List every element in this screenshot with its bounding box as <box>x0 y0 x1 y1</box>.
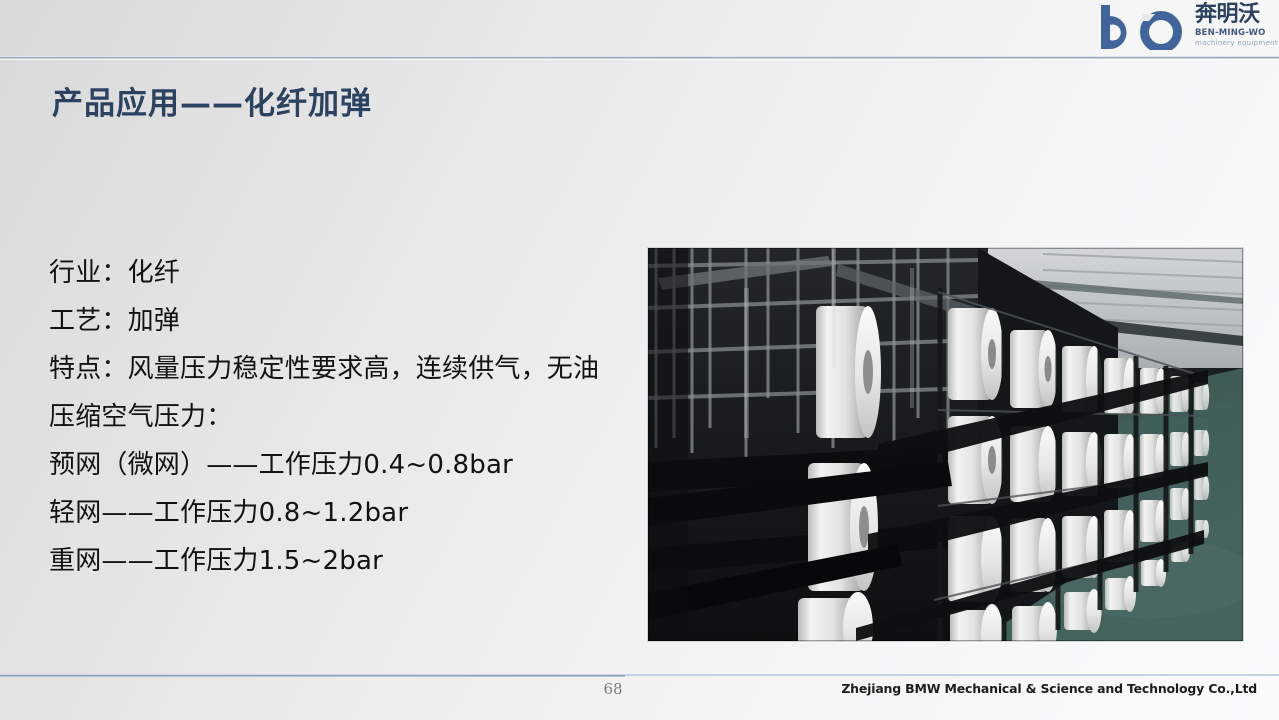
logo-tagline: machinery equipment <box>1195 39 1278 48</box>
company-logo: 奔明沃 BEN-MING-WO machinery equipment <box>1095 2 1271 56</box>
texturing-machine-yarn-bobbins-photo <box>648 248 1243 641</box>
content-line-features: 特点：风量压力稳定性要求高，连续供气，无油 <box>49 345 619 393</box>
page-title: 产品应用——化纤加弹 <box>52 78 372 123</box>
logo-wordmark: 奔明沃 BEN-MING-WO machinery equipment <box>1195 2 1271 56</box>
bo-monogram-logo-icon <box>1097 4 1193 50</box>
slide-header: 奔明沃 BEN-MING-WO machinery equipment <box>0 0 1279 58</box>
slide-canvas: 奔明沃 BEN-MING-WO machinery equipment 产品应用… <box>0 0 1279 720</box>
content-line-lightnetwork-spec: 轻网——工作压力0.8~1.2bar <box>49 489 619 537</box>
content-line-process: 工艺：加弹 <box>49 297 619 345</box>
header-divider-highlight <box>0 59 1279 60</box>
footer-divider-right <box>625 674 1279 676</box>
content-text-block: 行业：化纤 工艺：加弹 特点：风量压力稳定性要求高，连续供气，无油 压缩空气压力… <box>49 249 619 585</box>
content-line-heavynetwork-spec: 重网——工作压力1.5~2bar <box>49 537 619 585</box>
content-line-industry: 行业：化纤 <box>49 249 619 297</box>
content-line-prenetwork-spec: 预网（微网）——工作压力0.4~0.8bar <box>49 441 619 489</box>
footer-divider-left <box>0 674 625 677</box>
footer-company-name: Zhejiang BMW Mechanical & Science and Te… <box>841 681 1257 696</box>
logo-chinese-name: 奔明沃 <box>1195 3 1260 27</box>
content-line-pressure-heading: 压缩空气压力： <box>49 393 619 441</box>
page-number: 68 <box>596 680 630 698</box>
logo-romanized-name: BEN-MING-WO <box>1195 28 1266 38</box>
